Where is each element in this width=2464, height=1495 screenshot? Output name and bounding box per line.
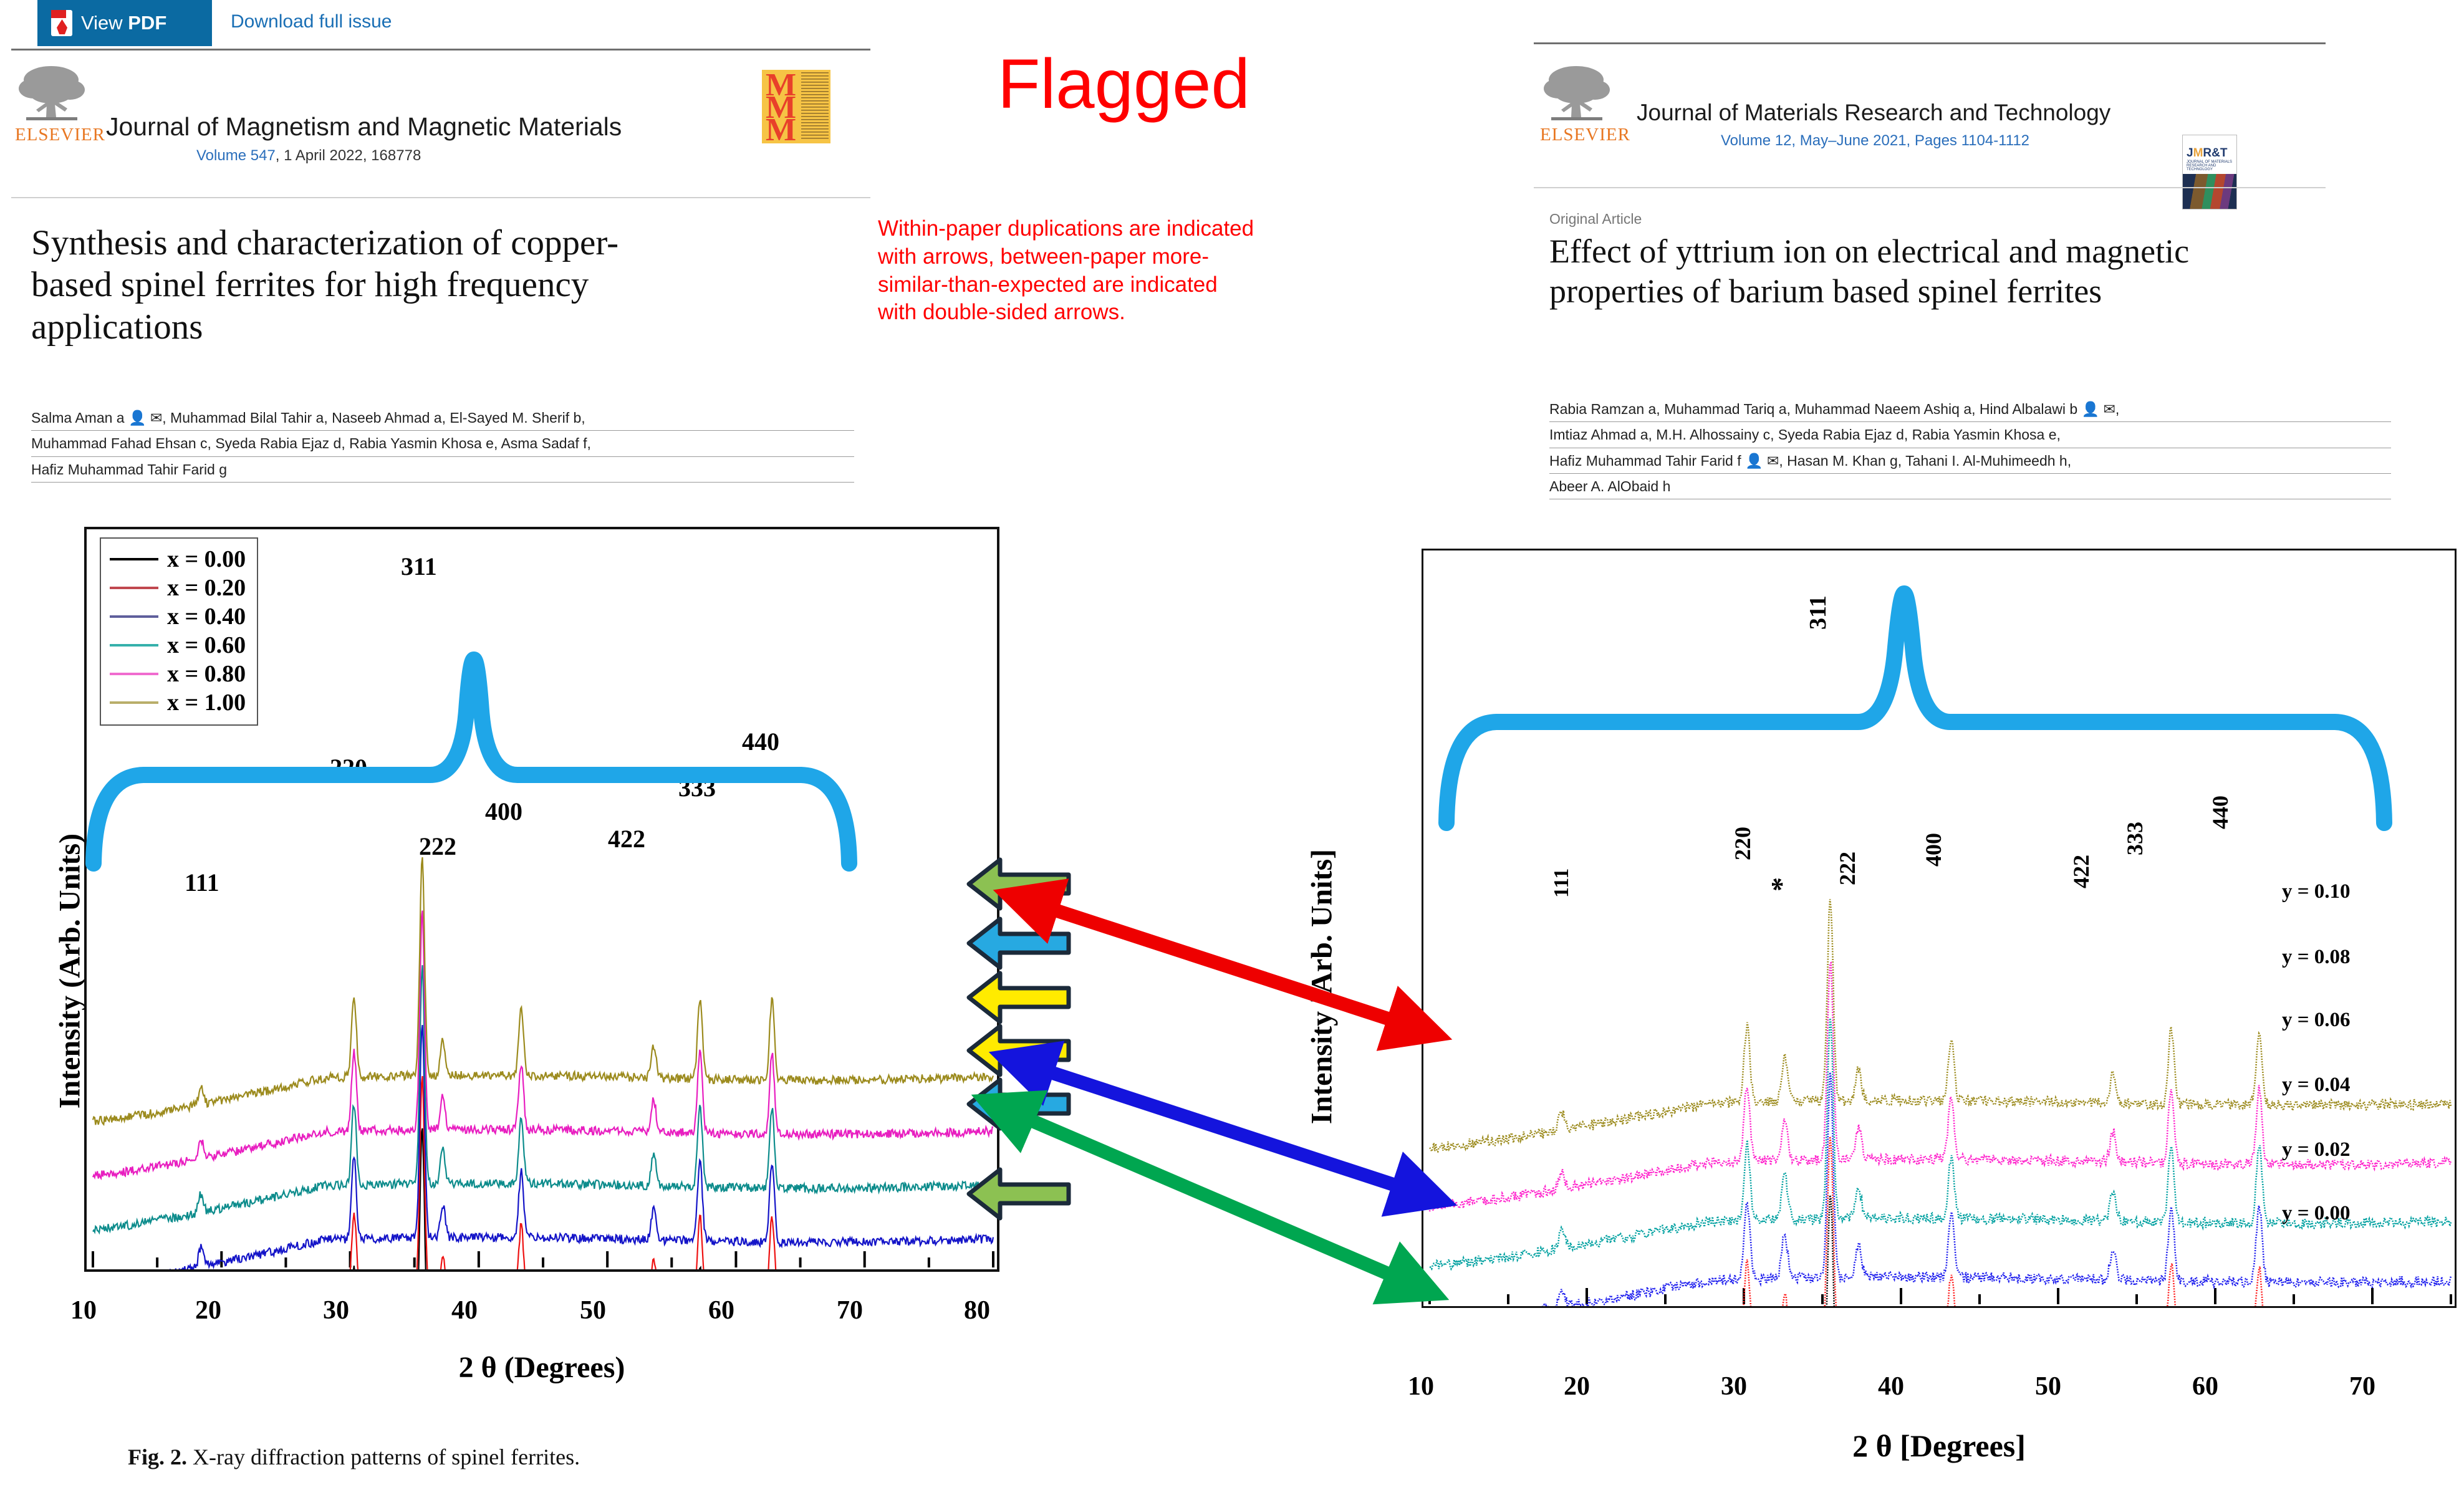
peak-label-220: 220: [330, 753, 367, 782]
x-tick-70: 70: [837, 1296, 863, 1325]
x-tick-70: 70: [2349, 1372, 2375, 1401]
series-curve: [93, 911, 993, 1179]
legend-label: x = 0.40: [167, 603, 246, 630]
peak-label-222: 222: [1834, 852, 1860, 885]
flagged-note-line: Within-paper duplications are indicated: [878, 215, 1476, 243]
right-article-title[interactable]: Effect of yttrium ion on electrical and …: [1549, 232, 2235, 311]
legend-label: x = 0.20: [167, 574, 246, 602]
left-journal-issue-info: , 1 April 2022, 168778: [276, 147, 421, 164]
peak-label-400: 400: [1920, 833, 1947, 867]
flagged-note-line: similar-than-expected are indicated: [878, 271, 1476, 299]
left-header-bottom-rule: [11, 197, 870, 198]
left-chart-x-axis-title: 2 θ (Degrees): [84, 1350, 999, 1385]
legend-label: x = 0.00: [167, 546, 246, 573]
series-label-y-010: y = 0.10: [2282, 880, 2351, 903]
figure-caption-label: Fig. 2.: [128, 1445, 187, 1469]
elsevier-wordmark: ELSEVIER: [15, 125, 93, 145]
peak-label-111: 111: [185, 868, 219, 897]
series-curve: [93, 857, 993, 1125]
x-tick-80: 80: [964, 1296, 990, 1325]
series-curve: [93, 1076, 993, 1269]
right-journal-title: Journal of Materials Research and Techno…: [1637, 100, 2110, 126]
right-chart-canvas: [1423, 550, 2455, 1306]
right-journal-cover-thumbnail: JMR&T JOURNAL OF MATERIALSRESEARCH AND T…: [2182, 135, 2237, 209]
author-line[interactable]: Imtiaz Ahmad a, M.H. Alhossainy c, Syeda…: [1549, 422, 2391, 448]
view-pdf-label: View PDF: [81, 12, 166, 34]
x-tick-60: 60: [2192, 1372, 2218, 1401]
author-line[interactable]: Salma Aman a 👤 ✉, Muhammad Bilal Tahir a…: [31, 405, 854, 431]
view-pdf-button[interactable]: View PDF: [37, 0, 212, 46]
series-label-y-002: y = 0.02: [2282, 1138, 2351, 1161]
series-curve: [93, 1025, 993, 1269]
legend-label: x = 1.00: [167, 689, 246, 716]
x-tick-10: 10: [70, 1296, 97, 1325]
peak-label-311: 311: [401, 552, 437, 581]
x-tick-20: 20: [195, 1296, 221, 1325]
elsevier-tree-icon: [1540, 62, 1614, 125]
legend-item: x = 0.80: [110, 660, 246, 688]
peak-label-440: 440: [2207, 796, 2233, 829]
x-tick-40: 40: [451, 1296, 478, 1325]
red-double-arrow: [1011, 896, 1434, 1034]
right-header-top-rule: [1534, 42, 2326, 44]
right-chart-y-axis-title: Intensity [Arb. Units]: [1305, 812, 1339, 1161]
blue-double-arrow: [1007, 1058, 1439, 1199]
pdf-icon: [51, 10, 72, 36]
right-chart-x-axis-title: 2 θ [Degrees]: [1422, 1428, 2457, 1464]
left-article-authors: Salma Aman a 👤 ✉, Muhammad Bilal Tahir a…: [31, 405, 854, 483]
x-tick-50: 50: [2035, 1372, 2061, 1401]
legend-swatch: [110, 673, 158, 675]
series-label-y-000: y = 0.00: [2282, 1202, 2351, 1225]
legend-swatch: [110, 558, 158, 560]
right-article-kicker: Original Article: [1549, 211, 1642, 228]
series-label-y-006: y = 0.06: [2282, 1009, 2351, 1032]
right-elsevier-logo: ELSEVIER: [1540, 62, 1618, 145]
author-line[interactable]: Abeer A. AlObaid h: [1549, 474, 2391, 499]
x-tick-60: 60: [708, 1296, 734, 1325]
x-tick-10: 10: [1408, 1372, 1434, 1401]
author-line[interactable]: Hafiz Muhammad Tahir Farid g: [31, 457, 854, 483]
left-journal-cover-thumbnail: M M M: [762, 70, 830, 143]
flagged-note-line: with double-sided arrows.: [878, 299, 1476, 327]
legend-item: x = 0.20: [110, 574, 246, 602]
x-tick-40: 40: [1878, 1372, 1904, 1401]
peak-label-440: 440: [742, 727, 779, 756]
author-line[interactable]: Muhammad Fahad Ehsan c, Syeda Rabia Ejaz…: [31, 431, 854, 456]
series-label-y-004: y = 0.04: [2282, 1074, 2351, 1097]
left-chart-legend[interactable]: x = 0.00 x = 0.20 x = 0.40 x = 0.60 x = …: [100, 537, 258, 726]
peak-label-star: *: [1764, 877, 1797, 892]
left-journal-volume: Volume 547: [196, 147, 276, 164]
green-double-arrow: [989, 1102, 1432, 1292]
author-line[interactable]: Rabia Ramzan a, Muhammad Tariq a, Muhamm…: [1549, 397, 2391, 422]
elsevier-tree-icon: [15, 62, 89, 125]
series-label-y-008: y = 0.08: [2282, 946, 2351, 969]
legend-swatch: [110, 587, 158, 589]
peak-label-400: 400: [485, 797, 522, 826]
legend-swatch: [110, 701, 158, 704]
peak-label-220: 220: [1730, 827, 1756, 860]
right-header-bottom-rule: [1534, 187, 2326, 188]
peak-label-333: 333: [2122, 822, 2148, 855]
right-xrd-chart[interactable]: [1422, 549, 2457, 1308]
legend-item: x = 0.00: [110, 545, 246, 574]
x-tick-50: 50: [580, 1296, 606, 1325]
x-tick-30: 30: [323, 1296, 349, 1325]
author-line[interactable]: Hafiz Muhammad Tahir Farid f 👤 ✉, Hasan …: [1549, 448, 2391, 474]
legend-swatch: [110, 615, 158, 618]
x-tick-20: 20: [1564, 1372, 1590, 1401]
flagged-note: Within-paper duplications are indicated …: [878, 215, 1476, 327]
left-elsevier-logo: ELSEVIER: [15, 62, 93, 145]
peak-label-311: 311: [1804, 595, 1832, 630]
left-article-title[interactable]: Synthesis and characterization of copper…: [31, 222, 698, 348]
left-chart-y-axis-title: Intensity (Arb. Units): [53, 797, 87, 1146]
legend-item: x = 0.40: [110, 602, 246, 631]
flagged-note-line: with arrows, between-paper more-: [878, 243, 1476, 271]
jmrt-cover-sub: JOURNAL OF MATERIALSRESEARCH AND TECHNOL…: [2187, 160, 2236, 171]
elsevier-wordmark: ELSEVIER: [1540, 125, 1618, 145]
legend-label: x = 0.60: [167, 632, 246, 659]
left-journal-issue: Volume 547, 1 April 2022, 168778: [196, 147, 421, 165]
left-journal-title: Journal of Magnetism and Magnetic Materi…: [106, 112, 622, 142]
right-article-authors: Rabia Ramzan a, Muhammad Tariq a, Muhamm…: [1549, 397, 2391, 499]
peak-label-111: 111: [1550, 868, 1574, 898]
legend-item: x = 0.60: [110, 631, 246, 660]
legend-item: x = 1.00: [110, 688, 246, 717]
figure-caption-text: X-ray diffraction patterns of spinel fer…: [193, 1445, 580, 1469]
peak-label-333: 333: [678, 773, 716, 802]
download-full-issue-link[interactable]: Download full issue: [231, 11, 392, 32]
peak-label-422: 422: [2068, 855, 2094, 888]
peak-label-422: 422: [608, 824, 645, 853]
flagged-heading: Flagged: [998, 44, 1250, 124]
legend-label: x = 0.80: [167, 660, 246, 688]
figure-caption: Fig. 2. X-ray diffraction patterns of sp…: [128, 1444, 580, 1470]
peak-label-222: 222: [419, 832, 456, 861]
left-header-top-rule: [11, 49, 870, 50]
jmrt-cover-logo: JMR&T: [2187, 147, 2227, 160]
x-tick-30: 30: [1721, 1372, 1747, 1401]
right-journal-issue: Volume 12, May–June 2021, Pages 1104-111…: [1721, 132, 2029, 150]
legend-swatch: [110, 644, 158, 647]
